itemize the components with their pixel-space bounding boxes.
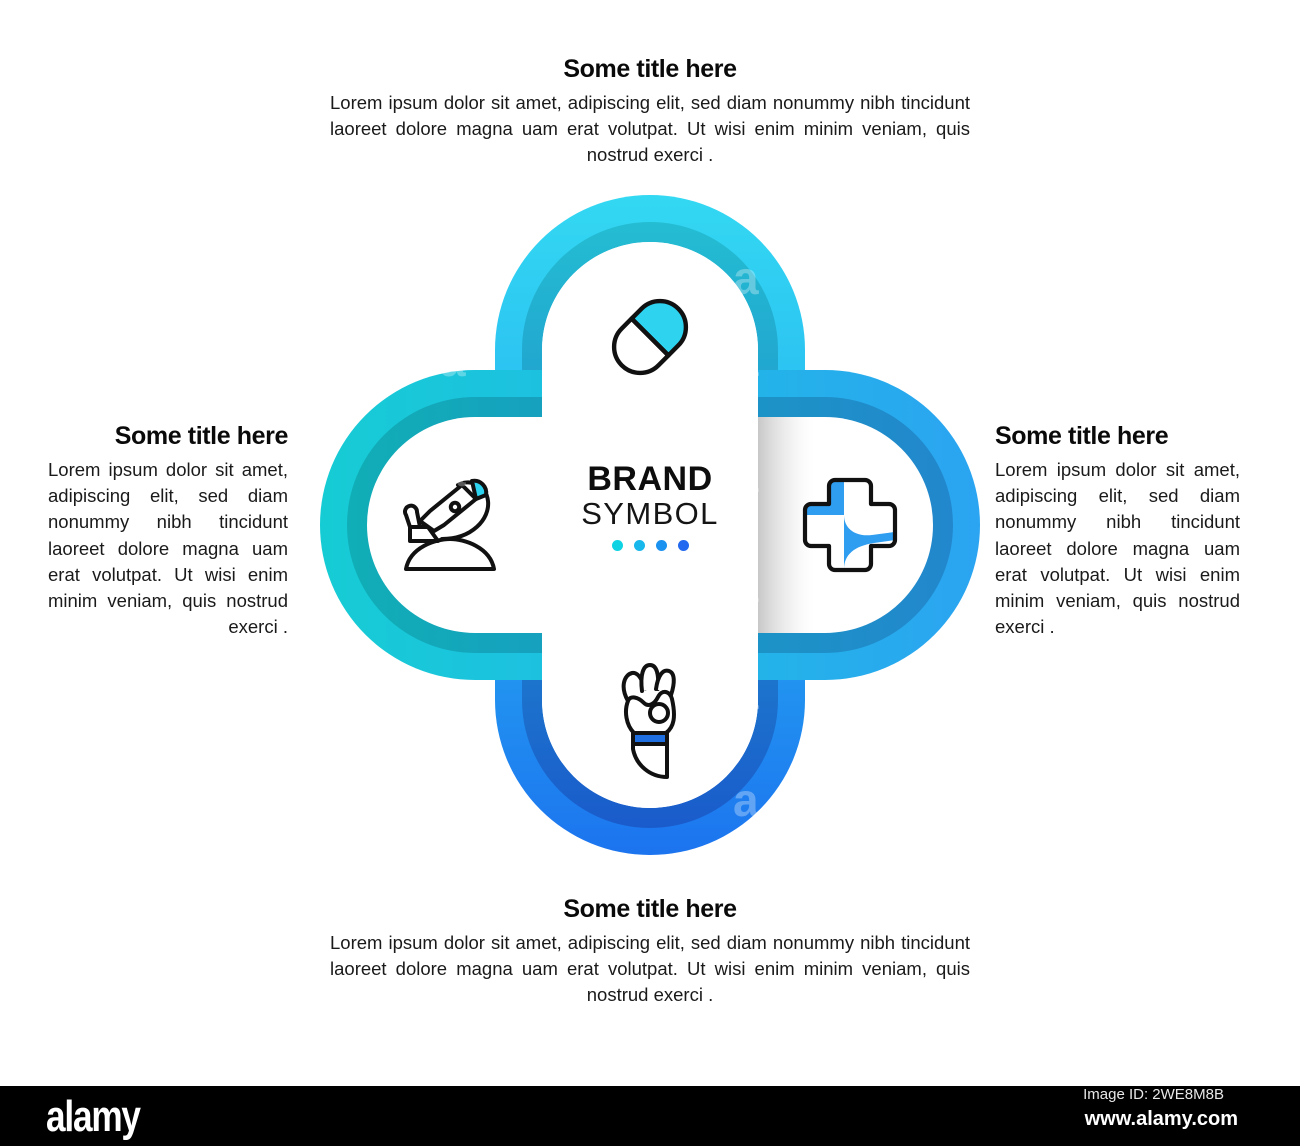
section-bottom-text: Some title here Lorem ipsum dolor sit am…: [330, 895, 970, 1009]
section-left-body: Lorem ipsum dolor sit amet, adipiscing e…: [48, 457, 288, 641]
alamy-url-label: www.alamy.com: [1085, 1108, 1238, 1131]
section-right-title: Some title here: [995, 422, 1240, 451]
section-left-text: Some title here Lorem ipsum dolor sit am…: [48, 422, 288, 641]
cross-infographic-graphic: aaaaaaaaaaaa BRAND SYMBOL: [310, 185, 990, 865]
section-left-title: Some title here: [48, 422, 288, 451]
section-right-body: Lorem ipsum dolor sit amet, adipiscing e…: [995, 457, 1240, 641]
section-bottom-title: Some title here: [330, 895, 970, 924]
alamy-footer-bar: alamy Image ID: 2WE8M8B www.alamy.com: [0, 1086, 1300, 1146]
section-top-text: Some title here Lorem ipsum dolor sit am…: [330, 55, 970, 169]
infographic-canvas: Some title here Lorem ipsum dolor sit am…: [0, 0, 1300, 1086]
alamy-logo: alamy: [46, 1092, 140, 1142]
section-top-body: Lorem ipsum dolor sit amet, adipiscing e…: [330, 90, 970, 169]
section-bottom-body: Lorem ipsum dolor sit amet, adipiscing e…: [330, 930, 970, 1009]
section-right-text: Some title here Lorem ipsum dolor sit am…: [995, 422, 1240, 641]
section-top-title: Some title here: [330, 55, 970, 84]
image-id-label: Image ID: 2WE8M8B: [1083, 1086, 1224, 1103]
